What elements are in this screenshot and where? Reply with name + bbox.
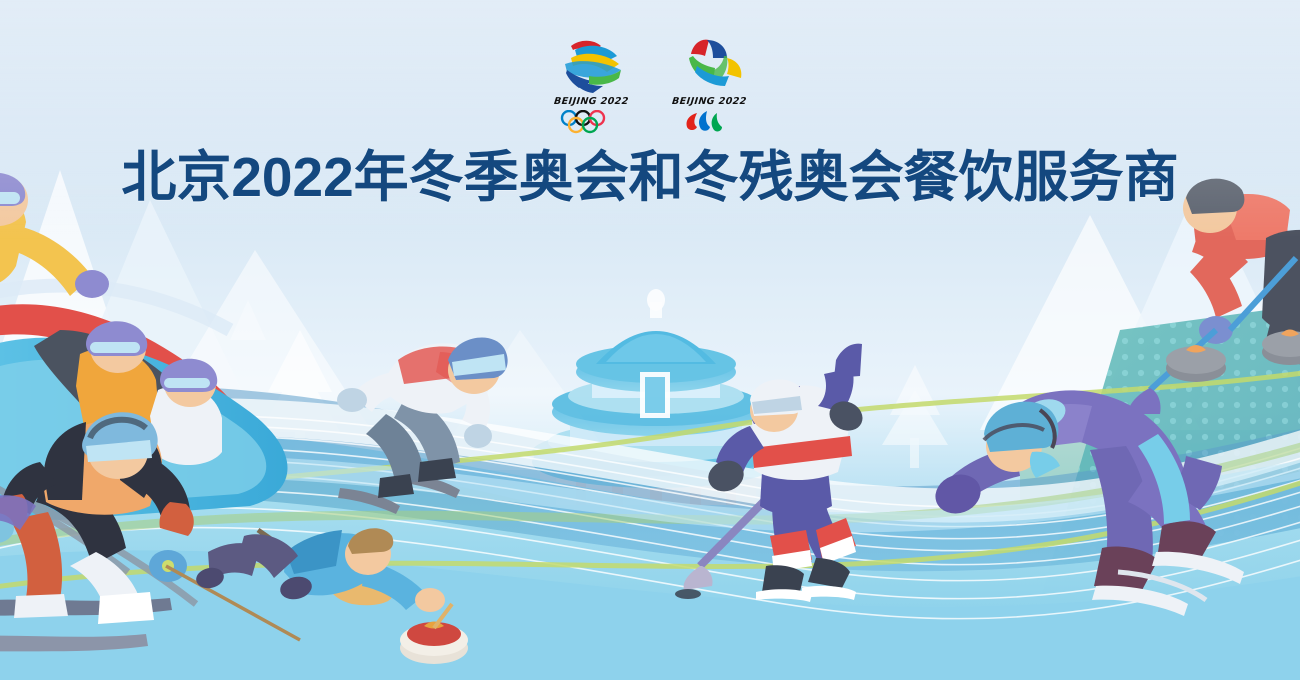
paralympic-wordmark: BEIJING 2022 [671,96,747,107]
agitos-symbol [683,111,735,133]
beijing-2022-paralympic-emblem: BEIJING 2022 [661,32,757,133]
page-title: 北京2022年冬季奥会和冬残奥会餐饮服务商 [0,145,1300,209]
olympic-wordmark: BEIJING 2022 [553,96,629,107]
olympic-emblem-symbol [549,32,633,94]
emblem-group: BEIJING 2022 [0,32,1300,134]
olympic-banner: BEIJING 2022 [0,0,1300,680]
paralympic-emblem-symbol [667,32,751,94]
beijing-2022-olympic-emblem: BEIJING 2022 [543,32,639,134]
olympic-rings [558,110,624,134]
